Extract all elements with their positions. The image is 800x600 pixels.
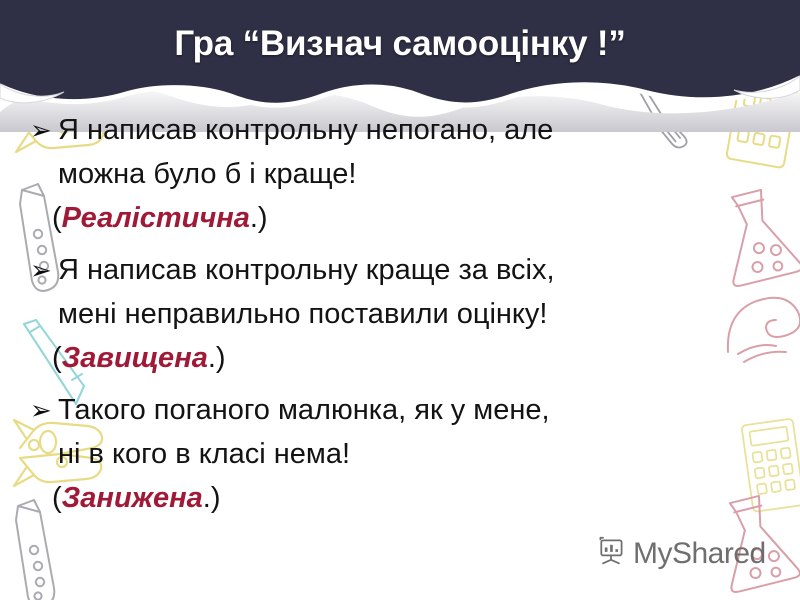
verdict-line: (Завищена.) — [0, 336, 800, 380]
list-item-line: можна було б і краще! — [0, 152, 800, 196]
verdict-word: Реалістична — [62, 202, 250, 234]
verdict-close-paren: .) — [208, 342, 226, 374]
verdict-open-paren: ( — [52, 202, 62, 234]
verdict-word: Завищена — [62, 342, 208, 374]
list-item-line: Я написав контрольну краще за всіх, — [58, 254, 555, 286]
verdict-open-paren: ( — [52, 342, 62, 374]
page-title: Гра “Визнач самооцінку !” — [0, 24, 800, 64]
spacer — [0, 240, 800, 248]
list-item: ➢ Такого поганого малюнка, як у мене, — [0, 388, 800, 432]
list-item-line: мені неправильно поставили оцінку! — [0, 292, 800, 336]
arrow-bullet-icon: ➢ — [30, 108, 56, 152]
verdict-line: (Занижена.) — [0, 476, 800, 520]
list-item: ➢ Я написав контрольну краще за всіх, — [0, 248, 800, 292]
arrow-bullet-icon: ➢ — [30, 388, 56, 432]
verdict-open-paren: ( — [52, 482, 62, 514]
verdict-word: Занижена — [62, 482, 203, 514]
myshared-watermark: MyShared — [596, 536, 766, 571]
list-item-line: ні в кого в класі нема! — [0, 432, 800, 476]
presentation-screen-icon — [596, 536, 626, 571]
myshared-label: MyShared — [633, 539, 766, 569]
slide-canvas: Гра “Визнач самооцінку !” ➢ Я написав ко… — [0, 0, 800, 600]
verdict-line: (Реалістична.) — [0, 196, 800, 240]
arrow-bullet-icon: ➢ — [30, 248, 56, 292]
verdict-close-paren: .) — [203, 482, 221, 514]
spacer — [0, 380, 800, 388]
list-item: ➢ Я написав контрольну непогано, але — [0, 108, 800, 152]
slide-body: ➢ Я написав контрольну непогано, але мож… — [0, 108, 800, 520]
list-item-line: Я написав контрольну непогано, але — [58, 114, 553, 146]
verdict-close-paren: .) — [250, 202, 268, 234]
list-item-line: Такого поганого малюнка, як у мене, — [58, 394, 550, 426]
